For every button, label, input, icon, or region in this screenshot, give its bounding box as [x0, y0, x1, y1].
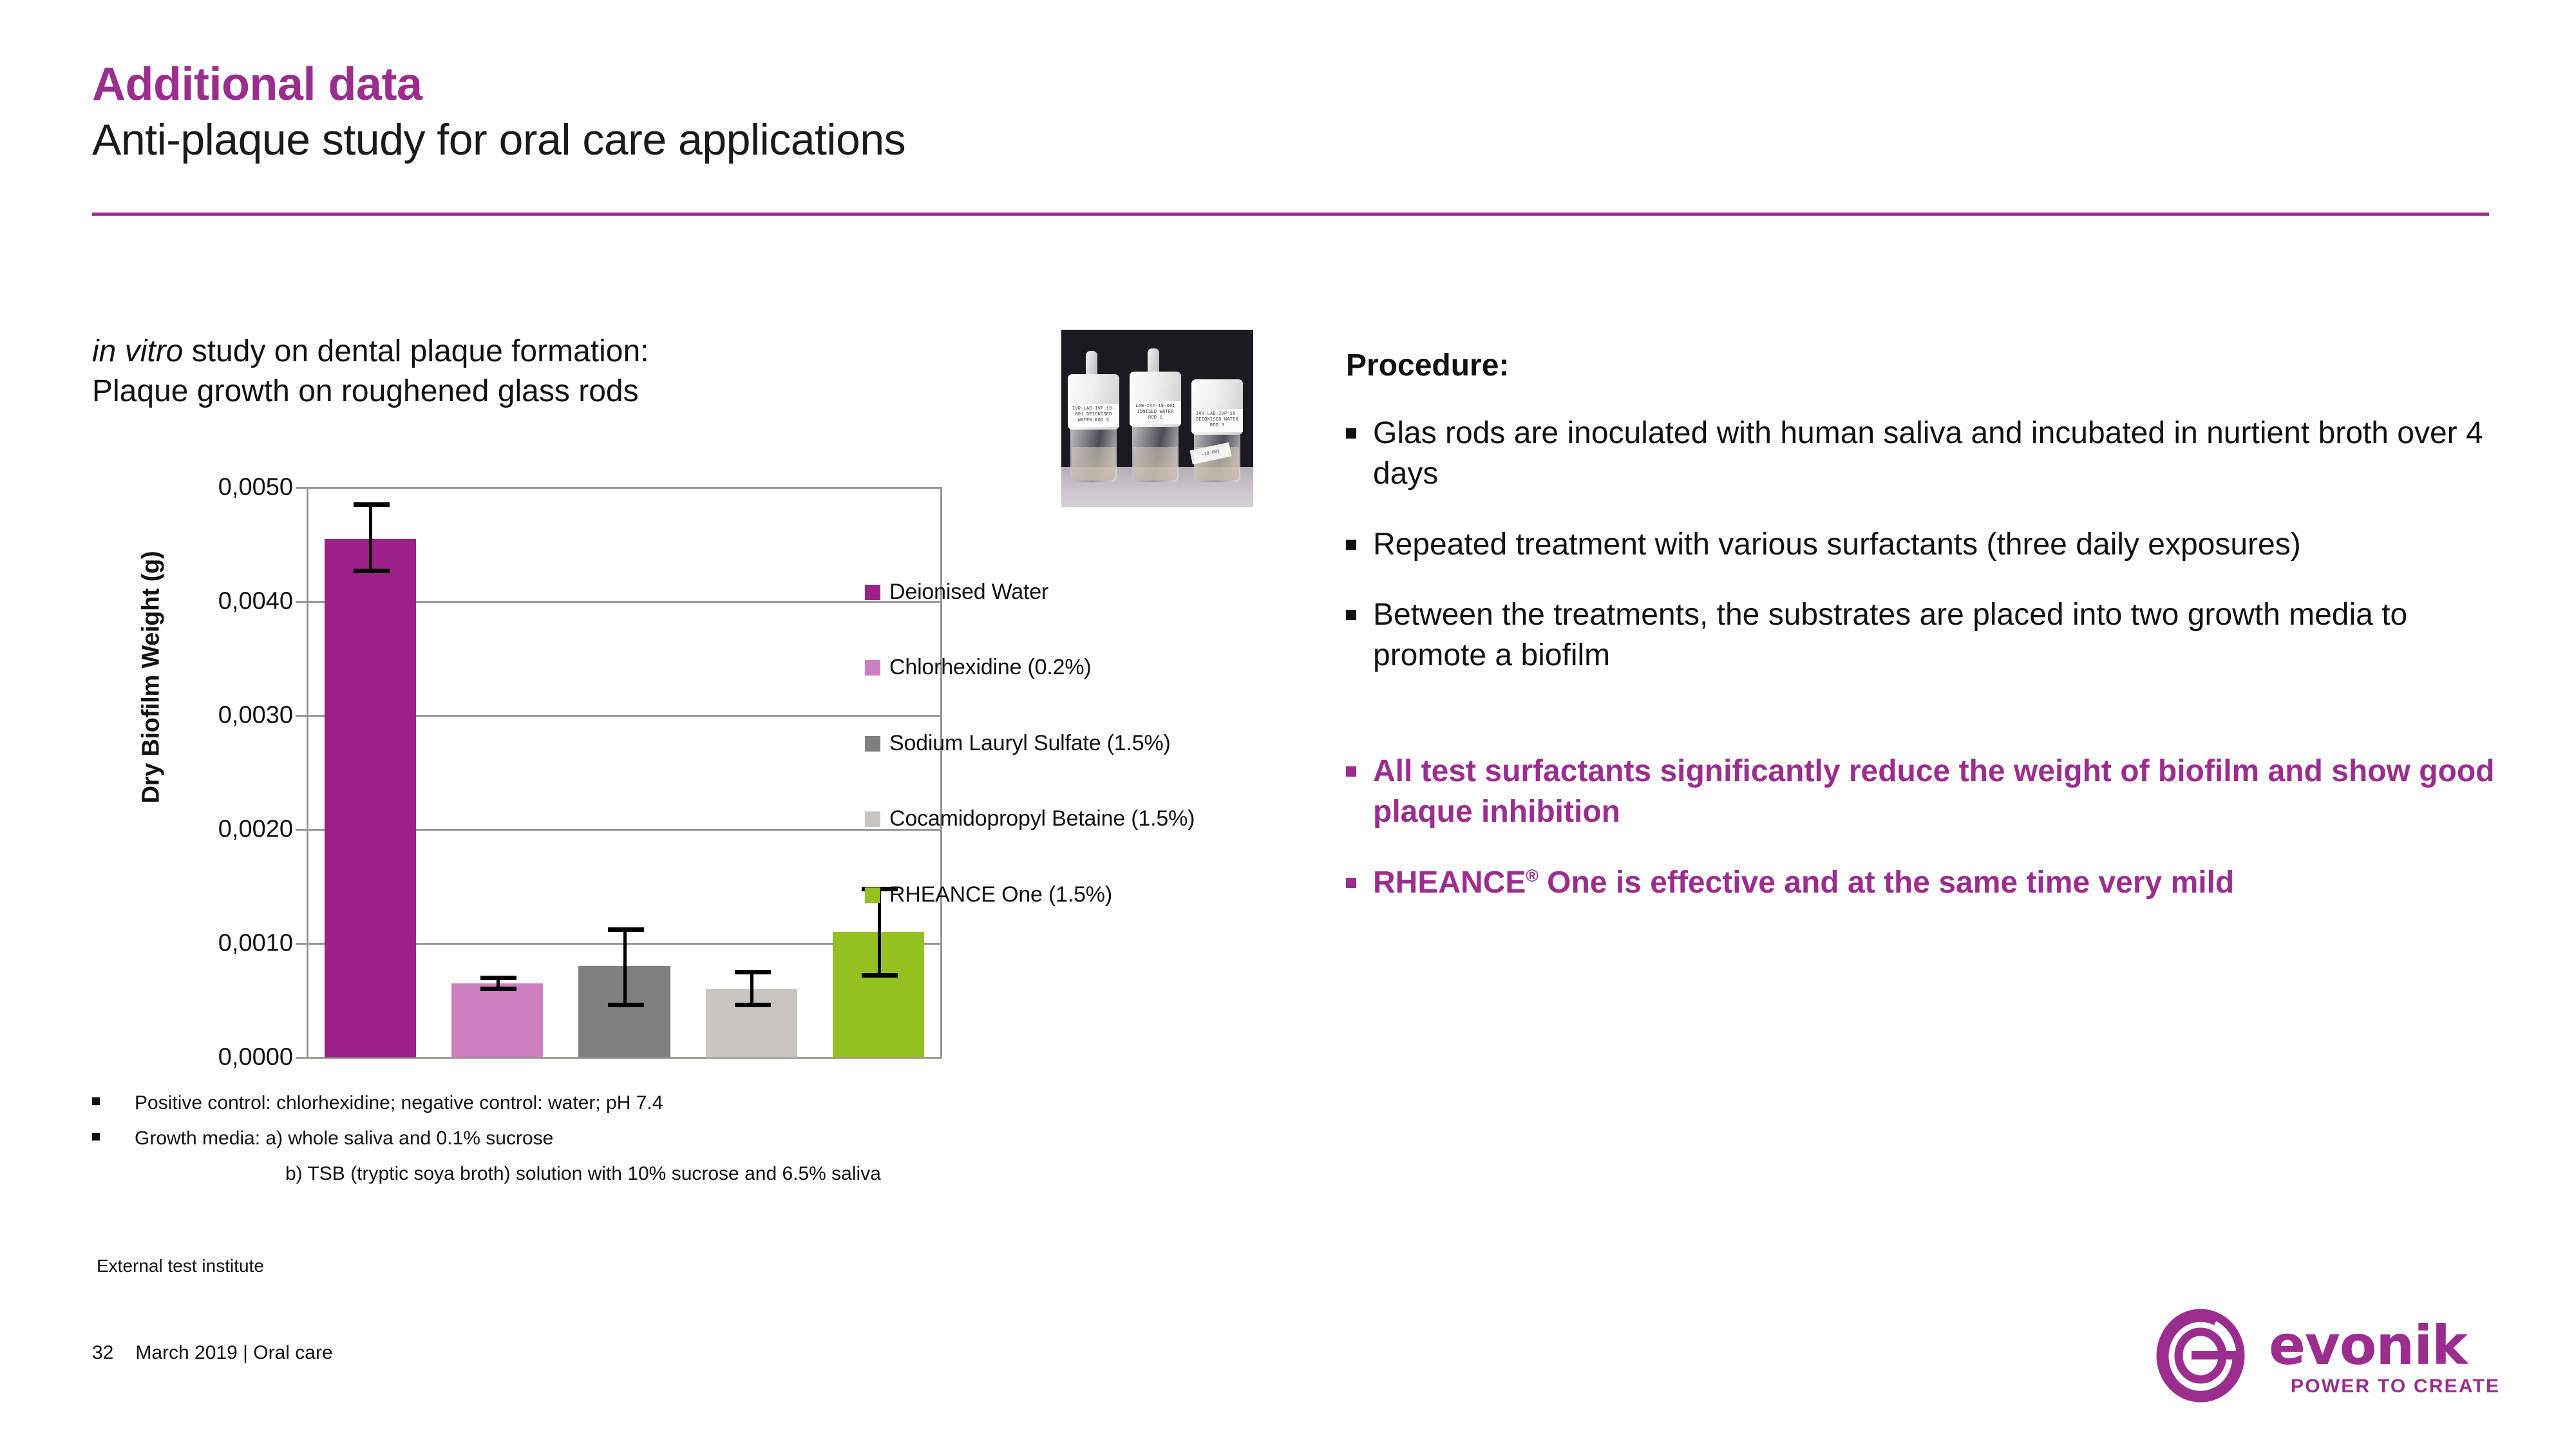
legend-label: Chlorhexidine (0.2%): [889, 655, 1092, 680]
error-bar-cap-bottom: [480, 987, 516, 991]
bullet-square-icon: [1346, 766, 1356, 777]
legend-swatch-icon: [865, 811, 880, 827]
error-bar-stem: [750, 970, 753, 1007]
y-tick-label: 0,0040: [218, 588, 293, 616]
y-axis-tick: [296, 943, 307, 945]
bar-1: [325, 539, 416, 1057]
evonik-e-mark-icon: [2154, 1309, 2257, 1405]
registered-mark-icon: ®: [1526, 866, 1538, 885]
conclusion-bullet: All test surfactants significantly reduc…: [1346, 751, 2512, 833]
vial-label: IVR-LAB-IVP-18-001 DEIONISED WATER ROD 5: [1070, 406, 1117, 423]
slide-footer: 32 March 2019 | Oral care: [92, 1342, 333, 1364]
gridline: [307, 487, 942, 489]
conclusion-text-rheance: RHEANCE® One is effective and at the sam…: [1373, 862, 2234, 903]
conclusion-bullet: RHEANCE® One is effective and at the sam…: [1346, 862, 2512, 903]
conclusion-text: All test surfactants significantly reduc…: [1373, 751, 2512, 833]
error-bar-cap-top: [608, 927, 644, 932]
slide-header: Additional data Anti-plaque study for or…: [92, 61, 2489, 166]
legend-item-1: Deionised Water: [865, 580, 1048, 605]
legend-swatch-icon: [865, 887, 880, 903]
rheance-brand: RHEANCE: [1373, 866, 1526, 900]
error-bar-cap-top: [480, 976, 516, 980]
error-bar-cap-bottom: [735, 1003, 771, 1007]
evonik-logo: evonik POWER TO CREATE: [2154, 1309, 2502, 1405]
intro-italic: in vitro: [92, 334, 183, 368]
error-bar-3: [625, 927, 625, 1007]
bullet-square-icon: [1346, 428, 1356, 439]
y-axis-title: Dry Biofilm Weight (g): [138, 529, 166, 826]
legend-swatch-icon: [865, 660, 880, 676]
error-bar-cap-bottom: [862, 973, 898, 978]
legend-swatch-icon: [865, 736, 880, 752]
y-axis-tick: [296, 1057, 307, 1059]
page-title: Additional data: [92, 61, 2489, 108]
procedure-bullet: Repeated treatment with various surfacta…: [1346, 524, 2512, 565]
vial-1: IVR-LAB-IVP-18-001 DEIONISED WATER ROD 5: [1070, 374, 1117, 482]
vial-label: IVR-LAB-IVP-18- DEIONISED WATER ROD 3: [1194, 412, 1240, 428]
procedure-bullet: Between the treatments, the substrates a…: [1346, 594, 2512, 676]
conclusion-tail: One is effective and at the same time ve…: [1539, 866, 2234, 900]
bar-2: [451, 983, 543, 1057]
vial-3: IVR-LAB-IVP-18- DEIONISED WATER ROD 3 -1…: [1194, 379, 1240, 482]
procedure-panel: Procedure: Glas rods are inoculated with…: [1346, 348, 2512, 933]
y-tick-label: 0,0020: [218, 816, 293, 844]
test-institute-note: External test institute: [97, 1256, 264, 1276]
legend-item-5: RHEANCE One (1.5%): [865, 882, 1112, 907]
error-bar-stem: [369, 502, 372, 573]
vial-label: LAB-IVP-18-001 IONISED WATER ROD 1: [1132, 404, 1179, 421]
y-tick-label: 0,0030: [218, 702, 293, 730]
header-divider: [92, 213, 2489, 216]
bullet-square-icon: [92, 1133, 100, 1141]
y-axis-line: [307, 488, 308, 1057]
footnote-2: Growth media: a) whole saliva and 0.1% s…: [92, 1124, 1316, 1153]
procedure-bullet: Glas rods are inoculated with human sali…: [1346, 413, 2512, 495]
footer-meta: March 2019 | Oral care: [135, 1342, 332, 1364]
y-tick-label: 0,0000: [218, 1044, 293, 1072]
legend-item-4: Cocamidopropyl Betaine (1.5%): [865, 806, 1195, 831]
procedure-bullet-text: Between the treatments, the substrates a…: [1373, 594, 2512, 676]
legend-swatch-icon: [865, 585, 880, 600]
chart-footnotes: Positive control: chlorhexidine; negativ…: [92, 1088, 1316, 1188]
legend-label: Sodium Lauryl Sulfate (1.5%): [889, 731, 1171, 756]
evonik-tagline: POWER TO CREATE: [2291, 1376, 2500, 1397]
procedure-bullet-text: Glas rods are inoculated with human sali…: [1373, 413, 2512, 495]
y-axis-tick: [296, 715, 307, 717]
intro-line-1-rest: study on dental plaque formation:: [183, 334, 649, 368]
legend-item-2: Chlorhexidine (0.2%): [865, 655, 1092, 680]
biofilm-weight-bar-chart: Dry Biofilm Weight (g) 0,00500,00400,003…: [92, 470, 1251, 1063]
y-tick-label: 0,0010: [218, 930, 293, 958]
plot-right-border: [940, 488, 942, 1057]
evonik-wordmark: evonik: [2269, 1314, 2467, 1377]
legend-label: Deionised Water: [889, 580, 1048, 605]
error-bar-cap-bottom: [608, 1003, 644, 1007]
error-bar-stem: [623, 927, 627, 1007]
footnote-2-continuation: b) TSB (tryptic soya broth) solution wit…: [285, 1159, 1316, 1188]
error-bar-2: [497, 976, 498, 992]
y-axis-tick: [296, 487, 307, 489]
footnote-1-text: Positive control: chlorhexidine; negativ…: [135, 1088, 663, 1117]
legend-label: Cocamidopropyl Betaine (1.5%): [889, 806, 1195, 831]
page-number: 32: [92, 1342, 113, 1364]
y-axis-tick: [296, 601, 307, 603]
bullet-square-icon: [1346, 540, 1356, 550]
legend-label: RHEANCE One (1.5%): [889, 882, 1112, 907]
error-bar-cap-top: [354, 502, 390, 507]
footnote-2-text: Growth media: a) whole saliva and 0.1% s…: [135, 1124, 553, 1153]
footnote-1: Positive control: chlorhexidine; negativ…: [92, 1088, 1316, 1117]
error-bar-1: [370, 502, 371, 573]
error-bar-4: [752, 970, 752, 1007]
page-subtitle: Anti-plaque study for oral care applicat…: [92, 114, 2489, 166]
bullet-square-icon: [92, 1097, 100, 1105]
error-bar-cap-bottom: [354, 569, 390, 573]
y-tick-label: 0,0050: [218, 474, 293, 502]
legend-item-3: Sodium Lauryl Sulfate (1.5%): [865, 731, 1171, 756]
bullet-square-icon: [1346, 610, 1356, 620]
y-axis-tick: [296, 829, 307, 831]
vial-2: LAB-IVP-18-001 IONISED WATER ROD 1: [1132, 372, 1179, 482]
error-bar-cap-top: [735, 970, 771, 974]
bullet-square-icon: [1346, 878, 1356, 888]
procedure-bullet-text: Repeated treatment with various surfacta…: [1373, 524, 2301, 565]
chart-plot-area: [307, 488, 942, 1057]
procedure-heading: Procedure:: [1346, 348, 2512, 383]
